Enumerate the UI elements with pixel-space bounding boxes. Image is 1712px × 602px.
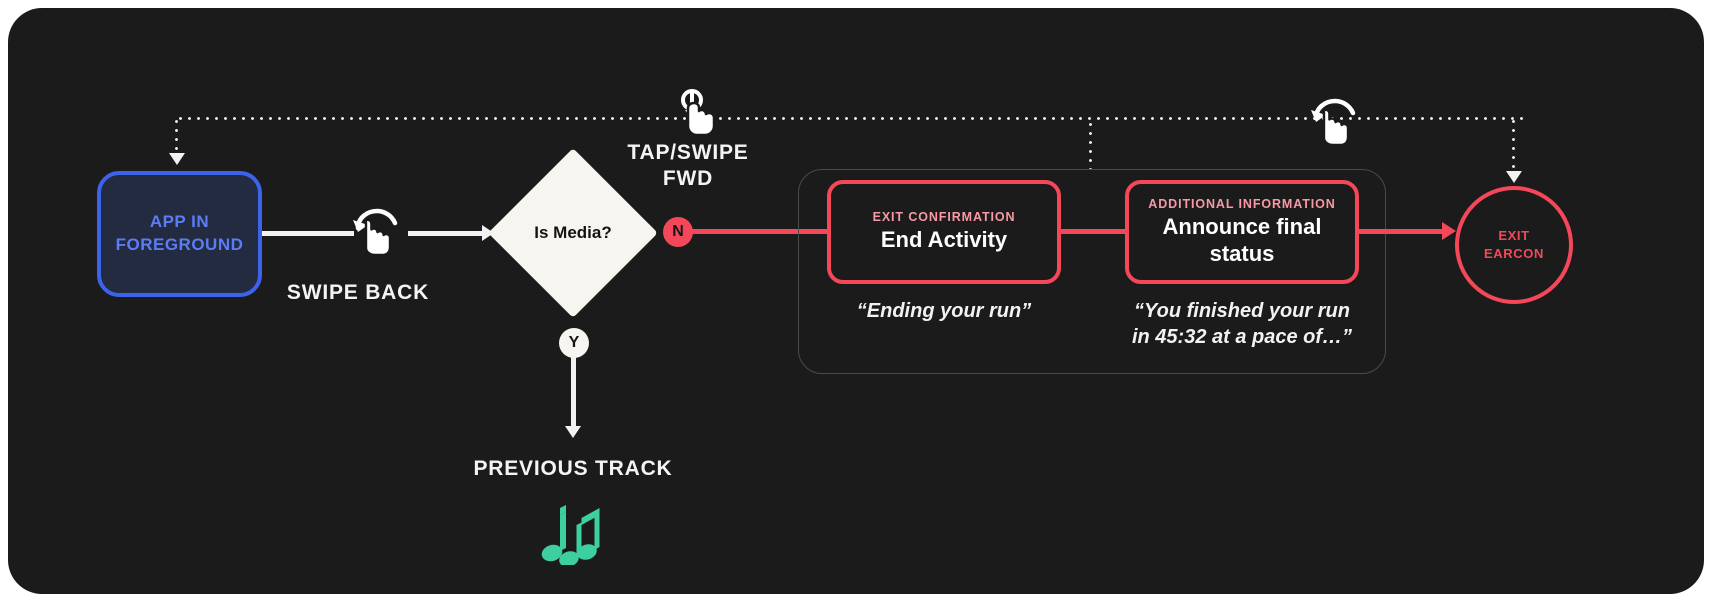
card-additional-information-title: Announce final status: [1163, 214, 1322, 267]
edge-app-to-decision-seg2: [408, 231, 489, 236]
badge-no: N: [663, 217, 693, 247]
card-additional-information-kicker: ADDITIONAL INFORMATION: [1148, 197, 1335, 211]
exit-earcon-label: EXIT EARCON: [1484, 227, 1544, 262]
quote-additional-information-line1: “You finished your run: [1115, 298, 1369, 324]
card-additional-information[interactable]: ADDITIONAL INFORMATION Announce final st…: [1125, 180, 1359, 284]
label-swipe-back: SWIPE BACK: [248, 280, 468, 306]
edge-app-to-decision-seg1: [262, 231, 354, 236]
card-exit-confirmation-kicker: EXIT CONFIRMATION: [873, 210, 1016, 224]
quote-exit-confirmation: “Ending your run”: [827, 298, 1061, 324]
edge-earcon-arrowhead: [1442, 222, 1456, 240]
return-path-left-down-dotted: [175, 117, 178, 155]
app-in-foreground-label: APP IN FOREGROUND: [116, 211, 244, 257]
badge-yes: Y: [559, 328, 589, 358]
edge-exit-to-additional-info: [1057, 229, 1129, 234]
return-path-right-arrowhead: [1506, 171, 1522, 183]
return-path-left-arrowhead: [169, 153, 185, 165]
tap-hand-icon: [674, 88, 720, 142]
decision-label: Is Media?: [488, 148, 658, 318]
card-additional-information-title-line2: status: [1163, 241, 1322, 267]
card-exit-confirmation[interactable]: EXIT CONFIRMATION End Activity: [827, 180, 1061, 284]
return-path-mid-down-dotted: [1089, 120, 1092, 170]
edge-yes-arrowhead: [565, 426, 581, 438]
card-additional-information-title-line1: Announce final: [1163, 214, 1322, 240]
diagram-canvas: TAP/SWIPE FWD APP IN FOREGROUND SWIPE BA…: [8, 8, 1704, 594]
edge-additional-info-to-earcon: [1355, 229, 1449, 234]
edge-yes-to-previous-track: [571, 356, 576, 428]
quote-additional-information: “You finished your run in 45:32 at a pac…: [1115, 298, 1369, 350]
app-in-foreground-line2: FOREGROUND: [116, 234, 244, 257]
swipe-back-hand-icon: [350, 208, 400, 256]
exit-earcon-line2: EARCON: [1484, 245, 1544, 263]
quote-additional-information-line2: in 45:32 at a pace of…”: [1115, 324, 1369, 350]
return-path-right-down-dotted: [1512, 117, 1515, 173]
app-in-foreground-line1: APP IN: [116, 211, 244, 234]
node-exit-earcon[interactable]: EXIT EARCON: [1455, 186, 1573, 304]
node-decision-is-media[interactable]: Is Media?: [488, 148, 658, 318]
label-previous-track: PREVIOUS TRACK: [408, 456, 738, 482]
exit-earcon-line1: EXIT: [1484, 227, 1544, 245]
music-notes-icon: [541, 503, 609, 570]
swipe-back-hand-icon-return: [1308, 98, 1358, 146]
node-app-in-foreground[interactable]: APP IN FOREGROUND: [97, 171, 262, 297]
card-exit-confirmation-title: End Activity: [881, 227, 1007, 253]
